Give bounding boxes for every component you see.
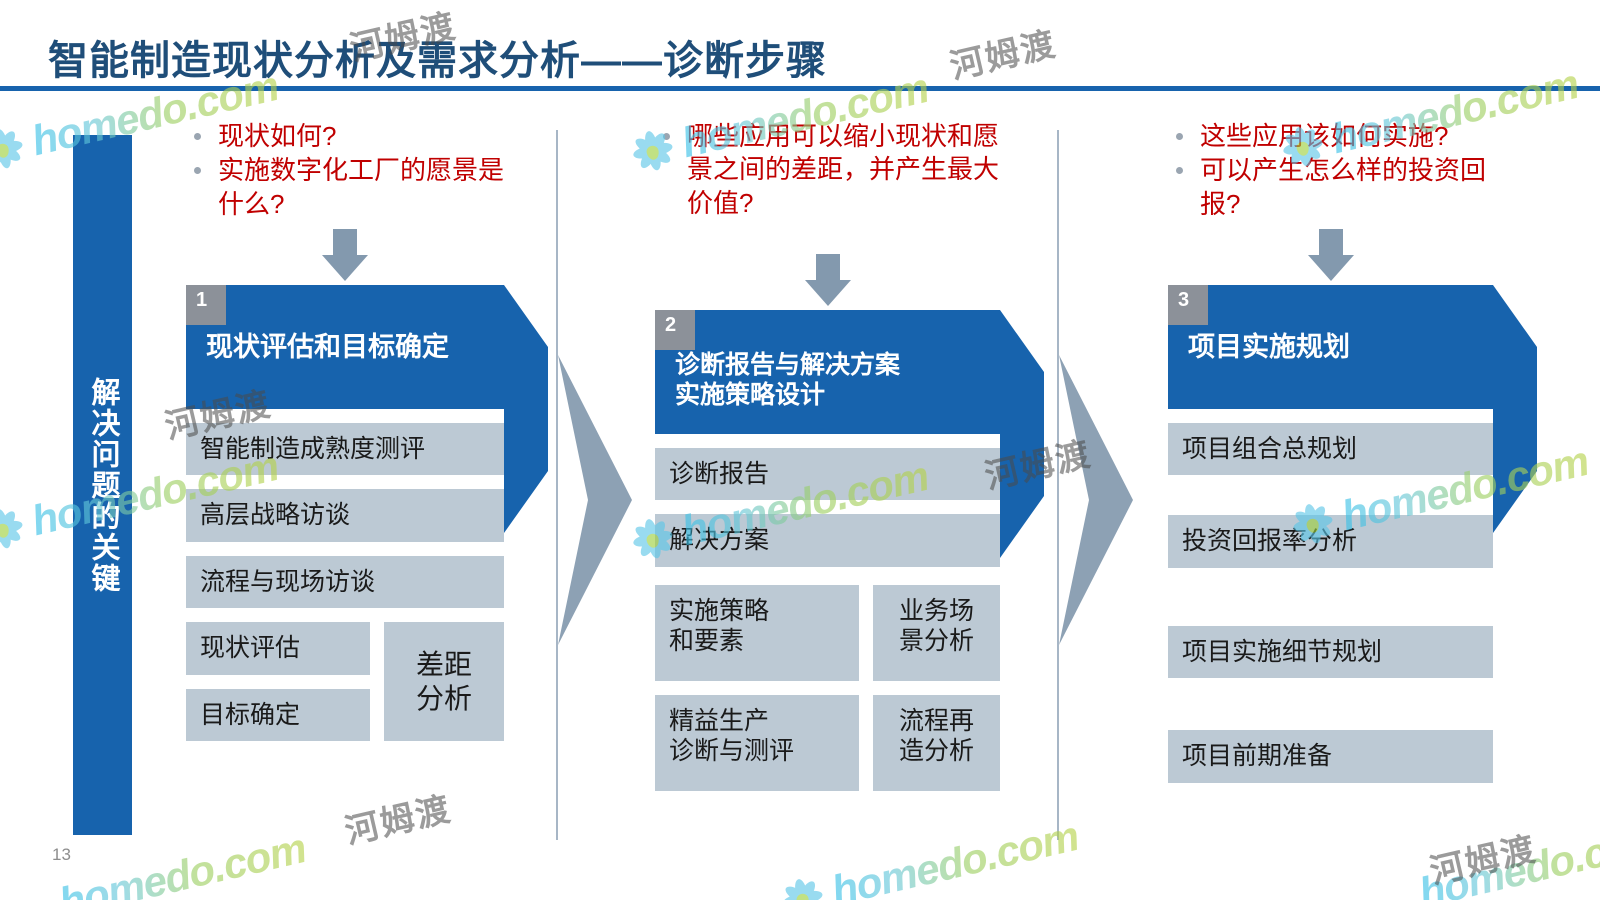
down-arrow-icon: [186, 229, 504, 281]
question-item: 这些应用该如何实施?: [1168, 120, 1493, 153]
list-item[interactable]: 智能制造成熟度测评: [186, 423, 504, 476]
arrow-head: [322, 255, 368, 281]
slide-canvas: 智能制造现状分析及需求分析——诊断步骤 解决问题的关键 现状如何? 实施数字化工…: [0, 0, 1600, 900]
stage-number-badge: 2: [655, 310, 695, 350]
item-list-2: 诊断报告 解决方案 实施策略 和要素 精益生产 诊断与测评 业务场 景分析 流程…: [655, 448, 1000, 791]
stage-banner-1[interactable]: 1 现状评估和目标确定: [186, 285, 504, 409]
gap-analysis-box[interactable]: 差距 分析: [384, 622, 504, 741]
watermark-brand-text: homedo.com: [827, 812, 1083, 900]
watermark-brand-text: homedo.com: [55, 824, 311, 900]
list-item[interactable]: 解决方案: [655, 514, 1000, 567]
arrow-shaft: [1319, 229, 1343, 255]
split-left-stack: 实施策略 和要素 精益生产 诊断与测评: [655, 585, 859, 791]
question-item: 现状如何?: [186, 120, 504, 153]
down-arrow-icon: [655, 254, 1000, 306]
flower-logo-icon: [775, 871, 830, 900]
watermark-brand-cn: 河姆渡: [944, 16, 1060, 88]
question-list-1: 现状如何? 实施数字化工厂的愿景是什么?: [186, 120, 504, 221]
list-item[interactable]: 诊断报告: [655, 448, 1000, 501]
arrow-head: [805, 280, 851, 306]
title-underline-rule: [0, 86, 1600, 91]
list-item[interactable]: 现状评估: [186, 622, 370, 675]
split-row-2: 实施策略 和要素 精益生产 诊断与测评 业务场 景分析 流程再 造分析: [655, 585, 1000, 791]
list-item[interactable]: 项目实施细节规划: [1168, 626, 1493, 679]
stage-label: 项目实施规划: [1168, 285, 1493, 377]
watermark-brand: homedo.com: [55, 824, 311, 900]
list-item[interactable]: 投资回报率分析: [1168, 515, 1493, 568]
watermark-brand-cn: 河姆渡: [339, 781, 455, 853]
stage-number-badge: 3: [1168, 285, 1208, 325]
question-item: 可以产生怎么样的投资回报?: [1168, 154, 1493, 221]
list-item[interactable]: 实施策略 和要素: [655, 585, 859, 681]
list-item[interactable]: 目标确定: [186, 689, 370, 742]
stage-label: 诊断报告与解决方案 实施策略设计: [655, 310, 1000, 424]
stage-label: 现状评估和目标确定: [186, 285, 504, 377]
chevron-right-icon: [558, 355, 632, 645]
list-item[interactable]: 项目组合总规划: [1168, 423, 1493, 476]
watermark-brand-text: homedo.com: [1415, 814, 1600, 900]
split-left-stack: 现状评估 目标确定: [186, 622, 370, 755]
flower-logo-icon: [0, 121, 30, 176]
item-list-3: 项目组合总规划 投资回报率分析 项目实施细节规划 项目前期准备: [1168, 423, 1493, 783]
question-item: 哪些应用可以缩小现状和愿景之间的差距，并产生最大价值?: [655, 120, 1000, 220]
key-bar: 解决问题的关键: [73, 135, 132, 835]
arrow-shaft: [816, 254, 840, 280]
flower-logo-icon: [0, 501, 30, 556]
stage-number-badge: 1: [186, 285, 226, 325]
list-item[interactable]: 业务场 景分析: [873, 585, 1000, 681]
watermark-brand: homedo.com: [775, 812, 1083, 900]
column-1: 现状如何? 实施数字化工厂的愿景是什么? 1 现状评估和目标确定 智能制造成熟度…: [186, 120, 504, 755]
page-number: 13: [52, 845, 71, 865]
stage-banner-2[interactable]: 2 诊断报告与解决方案 实施策略设计: [655, 310, 1000, 434]
item-list-1: 智能制造成熟度测评 高层战略访谈 流程与现场访谈 现状评估 目标确定 差距 分析: [186, 423, 504, 756]
column-3: 这些应用该如何实施? 可以产生怎么样的投资回报? 3 项目实施规划 项目组合总规…: [1168, 120, 1493, 797]
list-item[interactable]: 流程与现场访谈: [186, 556, 504, 609]
down-arrow-icon: [1168, 229, 1493, 281]
split-row-1: 现状评估 目标确定 差距 分析: [186, 622, 504, 755]
stage-banner-3[interactable]: 3 项目实施规划: [1168, 285, 1493, 409]
arrow-shaft: [333, 229, 357, 255]
key-bar-label: 解决问题的关键: [73, 135, 132, 835]
list-item[interactable]: 流程再 造分析: [873, 695, 1000, 791]
list-item[interactable]: 精益生产 诊断与测评: [655, 695, 859, 791]
question-list-3: 这些应用该如何实施? 可以产生怎么样的投资回报?: [1168, 120, 1493, 221]
list-item[interactable]: 项目前期准备: [1168, 730, 1493, 783]
question-item: 实施数字化工厂的愿景是什么?: [186, 154, 504, 221]
watermark-brand-cn: 河姆渡: [1424, 821, 1540, 893]
watermark-brand: homedo.com: [1415, 814, 1600, 900]
split-right-stack: 业务场 景分析 流程再 造分析: [873, 585, 1000, 791]
arrow-head: [1308, 255, 1354, 281]
chevron-right-icon: [1059, 355, 1133, 645]
question-list-2: 哪些应用可以缩小现状和愿景之间的差距，并产生最大价值?: [655, 120, 1000, 220]
column-2: 哪些应用可以缩小现状和愿景之间的差距，并产生最大价值? 2 诊断报告与解决方案 …: [655, 120, 1000, 791]
list-item[interactable]: 高层战略访谈: [186, 489, 504, 542]
page-title: 智能制造现状分析及需求分析——诊断步骤: [48, 28, 827, 86]
